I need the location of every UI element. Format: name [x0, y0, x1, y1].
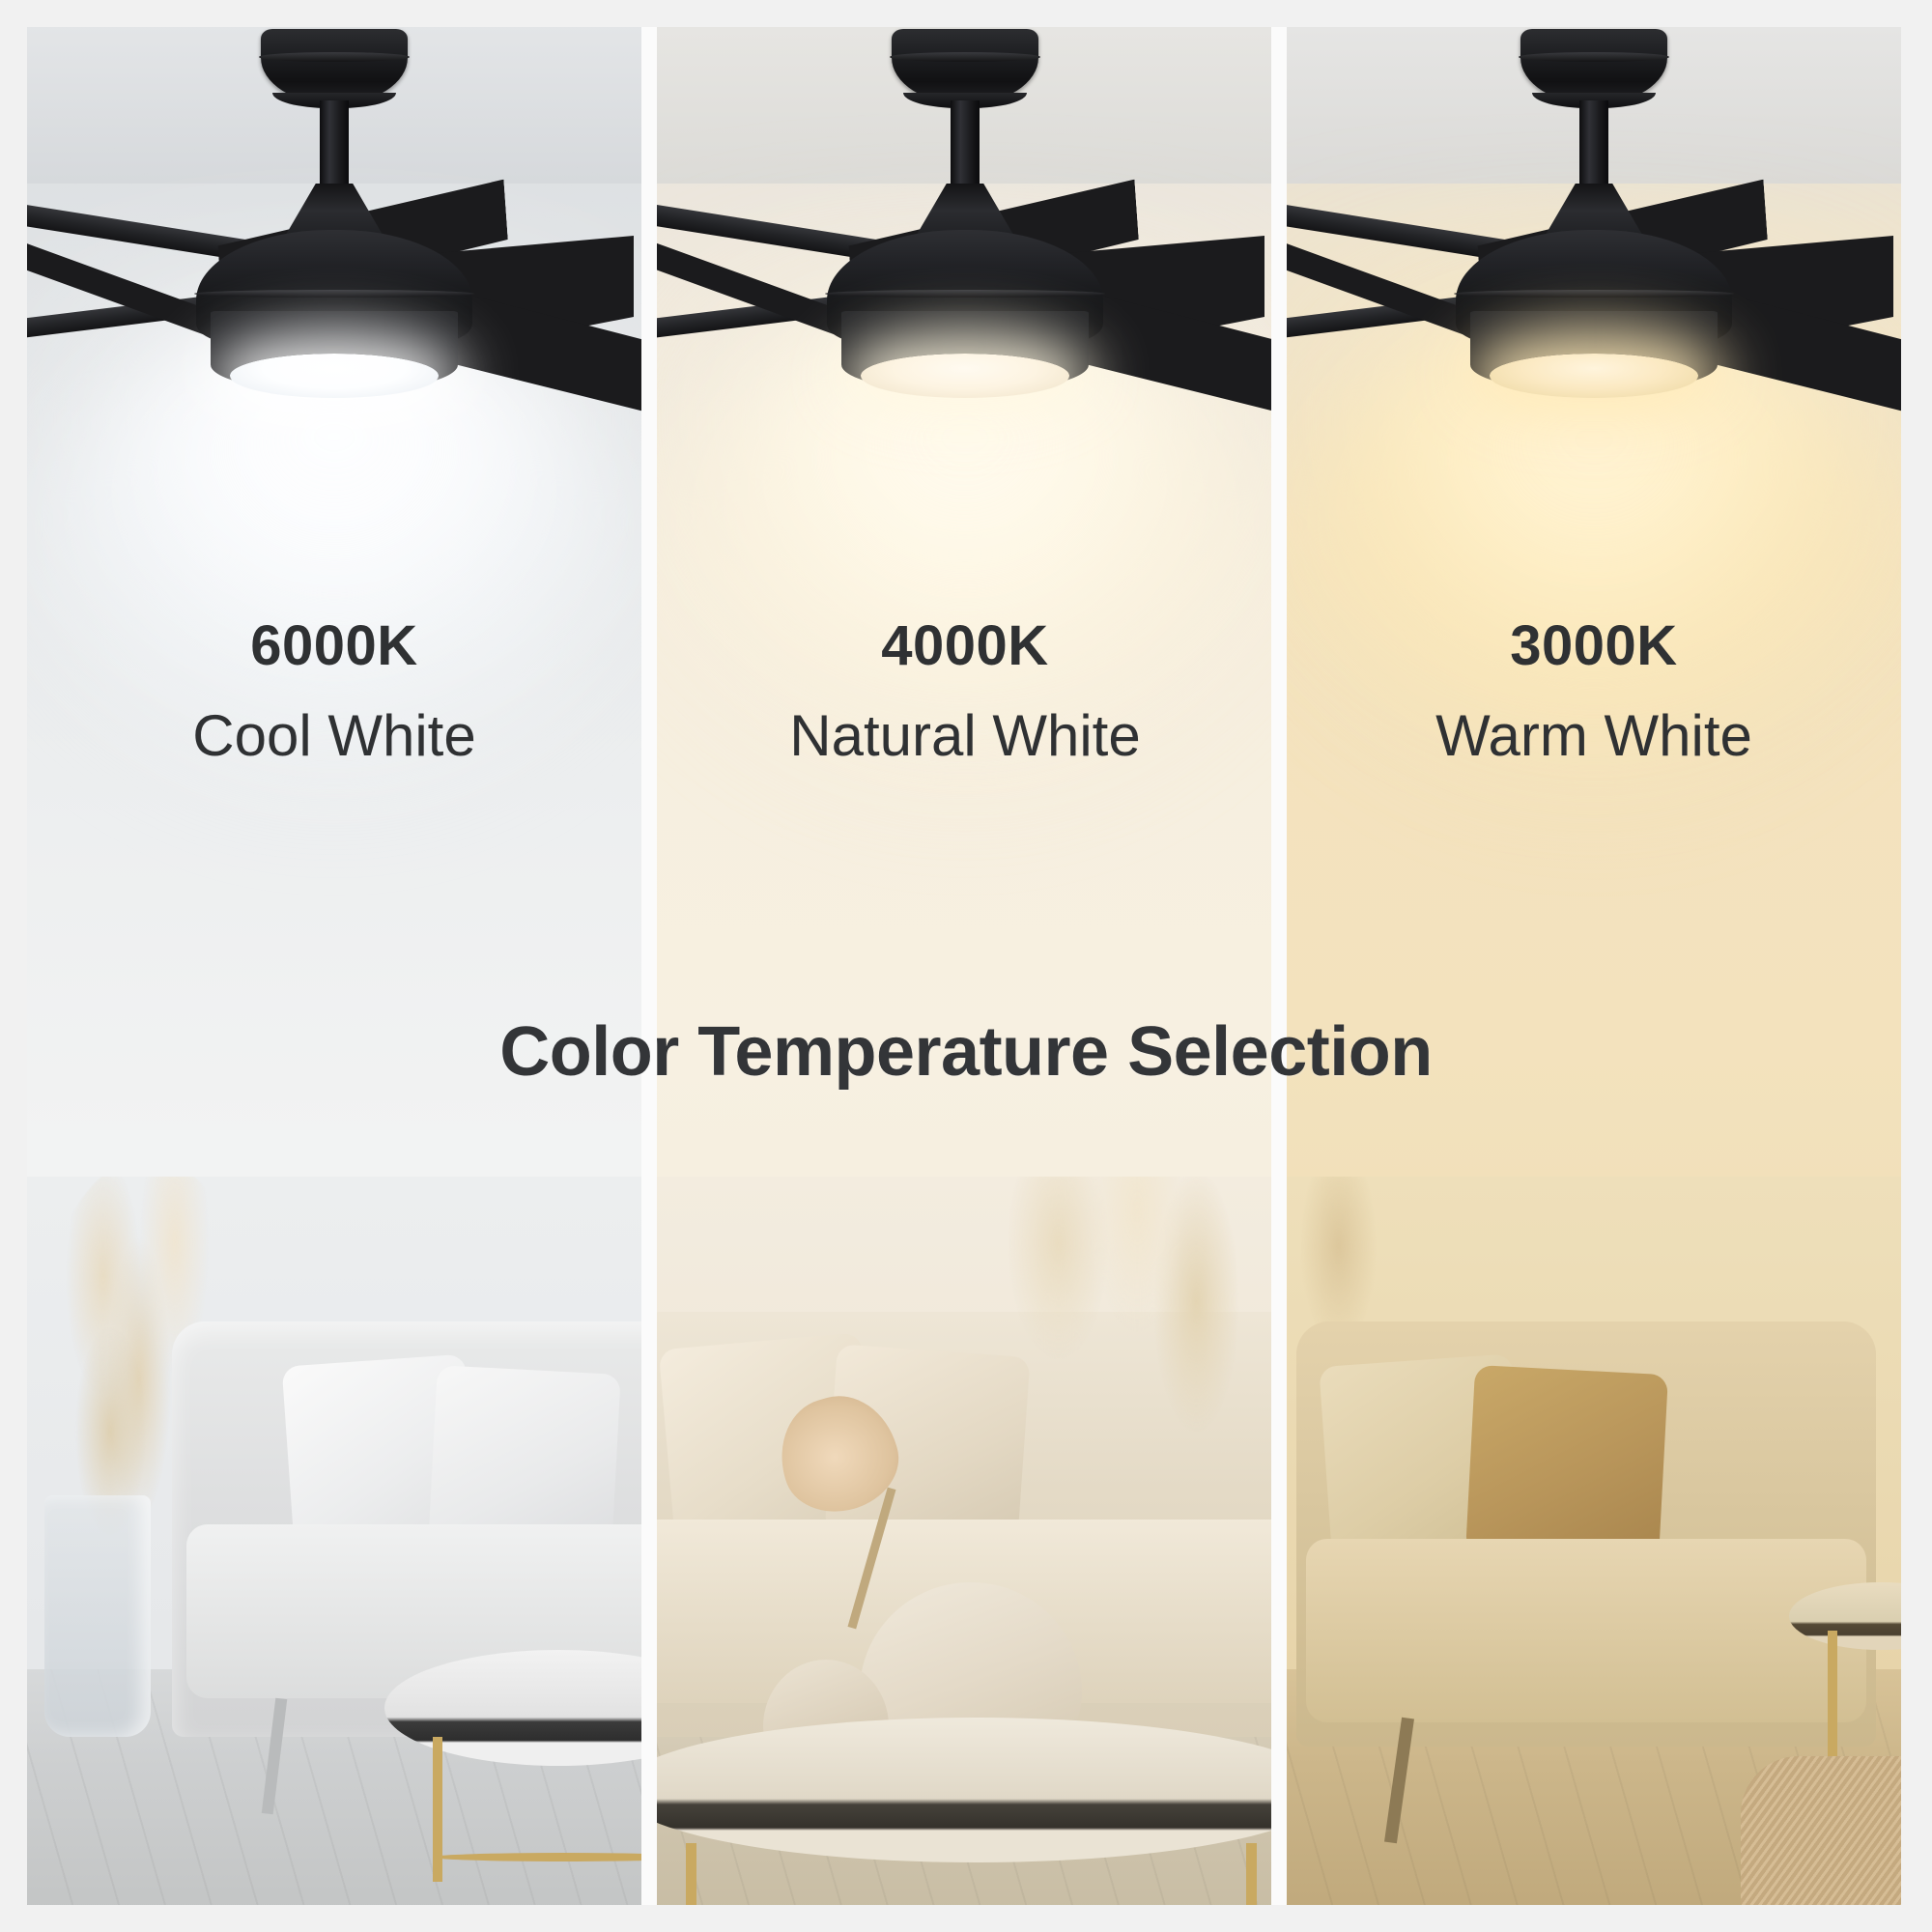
sofa-seat-cushion [1306, 1539, 1866, 1722]
kelvin-value: 4000K [657, 618, 1273, 674]
glass-vase [44, 1495, 151, 1737]
ceiling-fan-icon [1287, 0, 1901, 415]
scene-cool-white-living-room [27, 1177, 641, 1911]
led-light-disc-icon [1490, 354, 1698, 398]
pampas-grass [947, 1177, 1273, 1534]
label-warm-white: 3000K Warm White [1287, 618, 1901, 765]
canopy-ring [1519, 52, 1669, 62]
woven-pouf [1741, 1756, 1901, 1911]
motor-seam [194, 290, 474, 298]
panel-divider [1271, 0, 1287, 1911]
panel-natural-white[interactable]: 4000K Natural White [657, 0, 1273, 1911]
panel-warm-white[interactable]: 3000K Warm White [1287, 0, 1901, 1911]
label-natural-white: 4000K Natural White [657, 618, 1273, 765]
kelvin-value: 6000K [27, 618, 641, 674]
table-leg [686, 1843, 696, 1911]
color-temperature-panels: 6000K Cool White [27, 0, 1901, 1911]
kelvin-value: 3000K [1287, 618, 1901, 674]
panel-cool-white[interactable]: 6000K Cool White [27, 0, 641, 1911]
bottom-margin [0, 1907, 1932, 1932]
side-table-leg [1828, 1631, 1837, 1766]
canopy-ring [259, 52, 410, 62]
fan-downrod [951, 100, 980, 191]
temperature-name: Natural White [657, 707, 1273, 765]
led-light-disc-icon [861, 354, 1069, 398]
led-light-disc-icon [230, 354, 439, 398]
product-infographic: 6000K Cool White [0, 0, 1932, 1932]
motor-seam [1454, 290, 1734, 298]
table-leg [433, 1737, 442, 1882]
scene-natural-white-living-room [657, 1177, 1273, 1911]
temperature-name: Warm White [1287, 707, 1901, 765]
panel-divider [641, 0, 657, 1911]
page-title: Color Temperature Selection [0, 1012, 1932, 1092]
table-leg [1246, 1843, 1257, 1911]
fan-downrod [1579, 100, 1608, 191]
canopy-ring [890, 52, 1040, 62]
scene-warm-white-living-room [1287, 1177, 1901, 1911]
ceiling-fan-icon [657, 0, 1273, 415]
motor-seam [825, 290, 1105, 298]
temperature-name: Cool White [27, 707, 641, 765]
coffee-table [657, 1718, 1273, 1862]
label-cool-white: 6000K Cool White [27, 618, 641, 765]
sofa-pillow-velvet [1465, 1365, 1668, 1563]
fan-downrod [320, 100, 349, 191]
ceiling-fan-icon [27, 0, 641, 415]
